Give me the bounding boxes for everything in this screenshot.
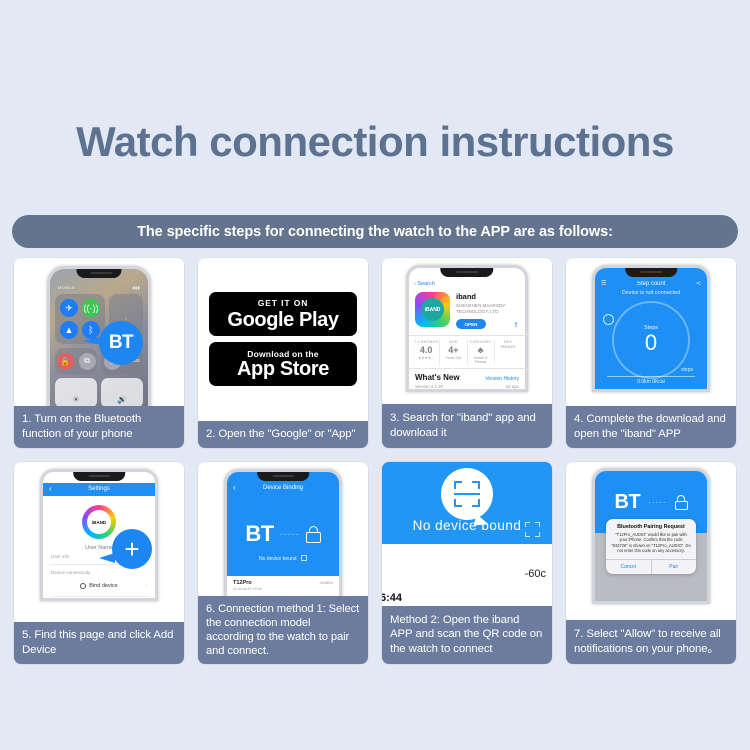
- step-6-media: Device Binding BT ····· No device bound: [198, 462, 368, 596]
- phone-notch: [76, 269, 121, 278]
- device-binding-screen: Device Binding BT ····· No device bound: [227, 472, 339, 596]
- steps-unit: steps: [595, 367, 707, 373]
- phone-mockup-settings: Settings iBAND User Name User info › Dev…: [40, 469, 158, 601]
- step-5-caption: 5. Find this page and click Add Device: [14, 622, 184, 664]
- bluetooth-pairing-dialog[interactable]: Bluetooth Pairing Request "T12Pro_AUDIO"…: [606, 519, 696, 574]
- phone-notch: [440, 268, 493, 277]
- whats-new-title: What's New: [415, 373, 460, 382]
- version-row: Version 2.1.20 2d ago: [409, 383, 525, 390]
- settings-nav-title: Settings: [43, 483, 155, 496]
- device-signal: -80dBm: [319, 580, 333, 585]
- bt-label: BT: [245, 521, 273, 547]
- steps-summary: 0.0km 0Kcal: [595, 379, 707, 385]
- app-store-back-link[interactable]: ‹ Search: [409, 279, 525, 290]
- no-device-bound-label: No device bound: [227, 555, 339, 562]
- stat-age-label: AGE: [440, 340, 466, 344]
- stat-category-sub: Health & Fitness: [468, 356, 494, 364]
- app-store-screen: ‹ Search iBAND iband SHENZHEN MAARSDY TE…: [409, 268, 525, 389]
- volume-slider[interactable]: 🔊: [101, 378, 143, 406]
- orientation-lock-tile[interactable]: 🔒 ⧉: [55, 348, 97, 374]
- qr-scan-icon[interactable]: [301, 555, 307, 561]
- phone-notch: [73, 472, 125, 481]
- phone-mockup-app-store: ‹ Search iBAND iband SHENZHEN MAARSDY TE…: [406, 265, 528, 392]
- step-card-6[interactable]: Device Binding BT ····· No device bound: [198, 462, 368, 664]
- stat-developer: DEV SHENZH: [495, 340, 521, 364]
- bt-pair-illustration: BT ·····: [227, 521, 339, 547]
- airplane-mode-icon[interactable]: ✈: [60, 299, 78, 317]
- pair-button[interactable]: Pair: [652, 560, 697, 574]
- cancel-button[interactable]: Cancel: [606, 560, 652, 574]
- stat-ratings-label: 7.4 RATINGS: [413, 340, 439, 344]
- dialog-body: "T12Pro_AUDIO" would like to pair with y…: [606, 532, 696, 559]
- stat-developer-label: DEV: [495, 340, 521, 344]
- step-card-8[interactable]: BT ····· Bluetooth Pairing Request "T12P…: [566, 462, 736, 664]
- stat-ratings: 7.4 RATINGS 4.0 ★★★★☆: [413, 340, 440, 364]
- subtitle-banner-text: The specific steps for connecting the wa…: [137, 224, 613, 240]
- steps-grid: MOBILE ▮▮▮ ✈ ((·)) ▲ ᛒ ♪: [14, 258, 736, 664]
- poster-root: Watch connection instructions The specif…: [0, 0, 750, 750]
- open-button[interactable]: OPEN: [456, 319, 486, 329]
- phone-mockup-step-counter: ☰ Step count ≺ Device is not connected S…: [592, 265, 710, 392]
- device-mac: 41:42:ac:87:19:4b: [233, 587, 262, 591]
- stat-age-sub: Years Old: [440, 356, 466, 360]
- qr-scan-icon: [454, 481, 480, 507]
- stat-age: AGE 4+ Years Old: [440, 340, 467, 364]
- app-icon-text: iBAND: [425, 307, 441, 313]
- avatar[interactable]: [603, 314, 614, 325]
- qr-callout-bubble: [441, 468, 493, 520]
- airdrop-icon[interactable]: ((·)): [82, 299, 100, 317]
- status-bar-icons: ▮▮▮: [132, 285, 140, 290]
- step-6-caption: 6. Connection method 1: Select the conne…: [198, 596, 368, 664]
- status-bar: MOBILE ▮▮▮: [55, 285, 143, 294]
- pairing-screen: BT ····· Bluetooth Pairing Request "T12P…: [595, 471, 707, 601]
- screen-mirror-icon[interactable]: ⧉: [79, 353, 96, 370]
- page-title: Watch connection instructions: [0, 118, 750, 166]
- version-history-link[interactable]: Version History: [485, 376, 519, 382]
- phone-notch: [625, 268, 677, 277]
- step-card-4[interactable]: ☰ Step count ≺ Device is not connected S…: [566, 258, 736, 448]
- step-2-caption: 2. Open the "Google" or "App": [198, 421, 368, 449]
- bind-device-label: Bind device: [89, 583, 117, 589]
- app-store-badge[interactable]: Download on the App Store: [209, 342, 357, 386]
- connection-dots-icon: ·····: [648, 498, 666, 507]
- step-card-5[interactable]: Settings iBAND User Name User info › Dev…: [14, 462, 184, 664]
- connection-dots-icon: ·····: [280, 529, 300, 539]
- google-play-badge-small: GET IT ON: [258, 299, 309, 308]
- app-name: iband: [456, 292, 507, 301]
- stat-ratings-sub: ★★★★☆: [413, 356, 439, 360]
- whats-new-header: What's New Version History: [409, 368, 525, 383]
- app-header: iBAND iband SHENZHEN MAARSDY TECHNOLOGY,…: [409, 290, 525, 329]
- signal-strength: -60c: [525, 568, 546, 580]
- stat-age-value: 4+: [440, 345, 466, 355]
- phone-mockup-control-center: MOBILE ▮▮▮ ✈ ((·)) ▲ ᛒ ♪: [47, 266, 151, 406]
- wifi-icon[interactable]: ▲: [60, 321, 78, 339]
- step-7-media: No device bound -60c 6:44: [382, 462, 552, 606]
- store-badges: GET IT ON Google Play Download on the Ap…: [198, 258, 368, 421]
- device-binding-nav-title: Device Binding: [227, 483, 339, 495]
- steps-ring-label: Steps: [644, 325, 658, 331]
- steps-ring-value: 0: [645, 331, 657, 355]
- status-bar-carrier: MOBILE: [58, 285, 75, 290]
- app-nav-title: Step count: [637, 281, 666, 287]
- step-5-media: Settings iBAND User Name User info › Dev…: [14, 462, 184, 622]
- device-list-item[interactable]: T12Pro 41:42:ac:87:19:4b -80dBm: [227, 576, 339, 596]
- bt-pair-illustration: BT ·····: [595, 491, 707, 514]
- step-7-caption: Method 2: Open the iband APP and scan th…: [382, 606, 552, 665]
- control-center-sliders: ☀ 🔊: [55, 378, 143, 406]
- back-label: Search: [417, 281, 434, 287]
- dialog-title: Bluetooth Pairing Request: [606, 519, 696, 532]
- step-card-1[interactable]: MOBILE ▮▮▮ ✈ ((·)) ▲ ᛒ ♪: [14, 258, 184, 448]
- google-play-badge[interactable]: GET IT ON Google Play: [209, 292, 357, 336]
- no-device-bound-text: No device bound: [259, 556, 297, 562]
- step-1-caption: 1. Turn on the Bluetooth function of you…: [14, 406, 184, 448]
- phone-mockup-device-binding: Device Binding BT ····· No device bound: [224, 469, 342, 596]
- bluetooth-callout-bubble: BT: [99, 321, 143, 365]
- app-store-badge-large: App Store: [237, 359, 329, 379]
- device-connectivity-label: Device connectivity: [51, 570, 90, 575]
- step-card-7[interactable]: No device bound -60c 6:44 Method 2: Open…: [382, 462, 552, 664]
- step-8-media: BT ····· Bluetooth Pairing Request "T12P…: [566, 462, 736, 620]
- step-3-media: ‹ Search iBAND iband SHENZHEN MAARSDY TE…: [382, 258, 552, 404]
- qr-scan-small-icon[interactable]: [525, 522, 540, 537]
- phone-notch: [257, 472, 309, 481]
- iband-logo: iBAND: [82, 505, 116, 539]
- divider: [51, 596, 147, 597]
- connection-status: Device is not connected: [595, 290, 707, 296]
- device-name: T12Pro: [233, 580, 262, 586]
- step-1-media: MOBILE ▮▮▮ ✈ ((·)) ▲ ᛒ ♪: [14, 258, 184, 406]
- iband-logo-text: iBAND: [92, 520, 106, 525]
- step-4-media: ☰ Step count ≺ Device is not connected S…: [566, 258, 736, 406]
- stat-category-label: CATEGORY: [468, 340, 494, 344]
- stat-category: CATEGORY ♣ Health & Fitness: [468, 340, 495, 364]
- app-top-bar: ☰ Step count ≺: [595, 279, 707, 288]
- bt-label: BT: [615, 491, 641, 514]
- chevron-right-icon: ›: [145, 583, 147, 589]
- app-icon: iBAND: [415, 292, 450, 327]
- add-device-callout-bubble: +: [112, 529, 152, 569]
- qr-panel-white-area: -60c 6:44: [382, 544, 552, 606]
- step-4-caption: 4. Complete the download and open the "i…: [566, 406, 736, 448]
- stat-ratings-value: 4.0: [413, 345, 439, 355]
- app-developer: SHENZHEN MAARSDY TECHNOLOGY, LTD: [456, 303, 507, 315]
- bind-device-row[interactable]: Bind device ›: [43, 578, 155, 594]
- lock-icon: [306, 526, 321, 543]
- brightness-slider[interactable]: ☀: [55, 378, 97, 406]
- step-card-2[interactable]: GET IT ON Google Play Download on the Ap…: [198, 258, 368, 448]
- share-icon[interactable]: ⇪: [513, 321, 519, 329]
- dialog-actions: Cancel Pair: [606, 559, 696, 574]
- app-stats-row: 7.4 RATINGS 4.0 ★★★★☆ AGE 4+ Years Old C…: [409, 335, 525, 368]
- app-meta: iband SHENZHEN MAARSDY TECHNOLOGY, LTD O…: [456, 292, 507, 329]
- lock-icon: [675, 495, 688, 510]
- step-counter-screen: ☰ Step count ≺ Device is not connected S…: [595, 268, 707, 389]
- menu-icon[interactable]: ☰: [601, 280, 606, 287]
- share-icon[interactable]: ≺: [696, 280, 701, 287]
- step-3-caption: 3. Search for "iband" app and download i…: [382, 404, 552, 448]
- step-8-caption: 7. Select "Allow" to receive all notific…: [566, 620, 736, 664]
- phone-mockup-pairing-request: BT ····· Bluetooth Pairing Request "T12P…: [592, 468, 710, 604]
- user-info-value: User info: [51, 554, 69, 559]
- subtitle-banner: The specific steps for connecting the wa…: [12, 215, 738, 248]
- version-age: 2d ago: [506, 384, 519, 389]
- qr-scan-panel: No device bound -60c 6:44: [382, 462, 552, 606]
- device-time: 6:44: [382, 592, 402, 604]
- app-store-badge-small: Download on the: [247, 350, 318, 359]
- version-number: Version 2.1.20: [415, 384, 443, 389]
- device-connectivity-row: Device connectivity: [43, 567, 155, 578]
- stat-category-value: ♣: [468, 345, 494, 355]
- step-2-media: GET IT ON Google Play Download on the Ap…: [198, 258, 368, 421]
- google-play-badge-large: Google Play: [227, 310, 338, 330]
- step-card-3[interactable]: ‹ Search iBAND iband SHENZHEN MAARSDY TE…: [382, 258, 552, 448]
- bind-device-icon: [80, 583, 86, 589]
- stat-developer-sub: SHENZH: [495, 345, 521, 349]
- rotation-lock-icon[interactable]: 🔒: [57, 353, 74, 370]
